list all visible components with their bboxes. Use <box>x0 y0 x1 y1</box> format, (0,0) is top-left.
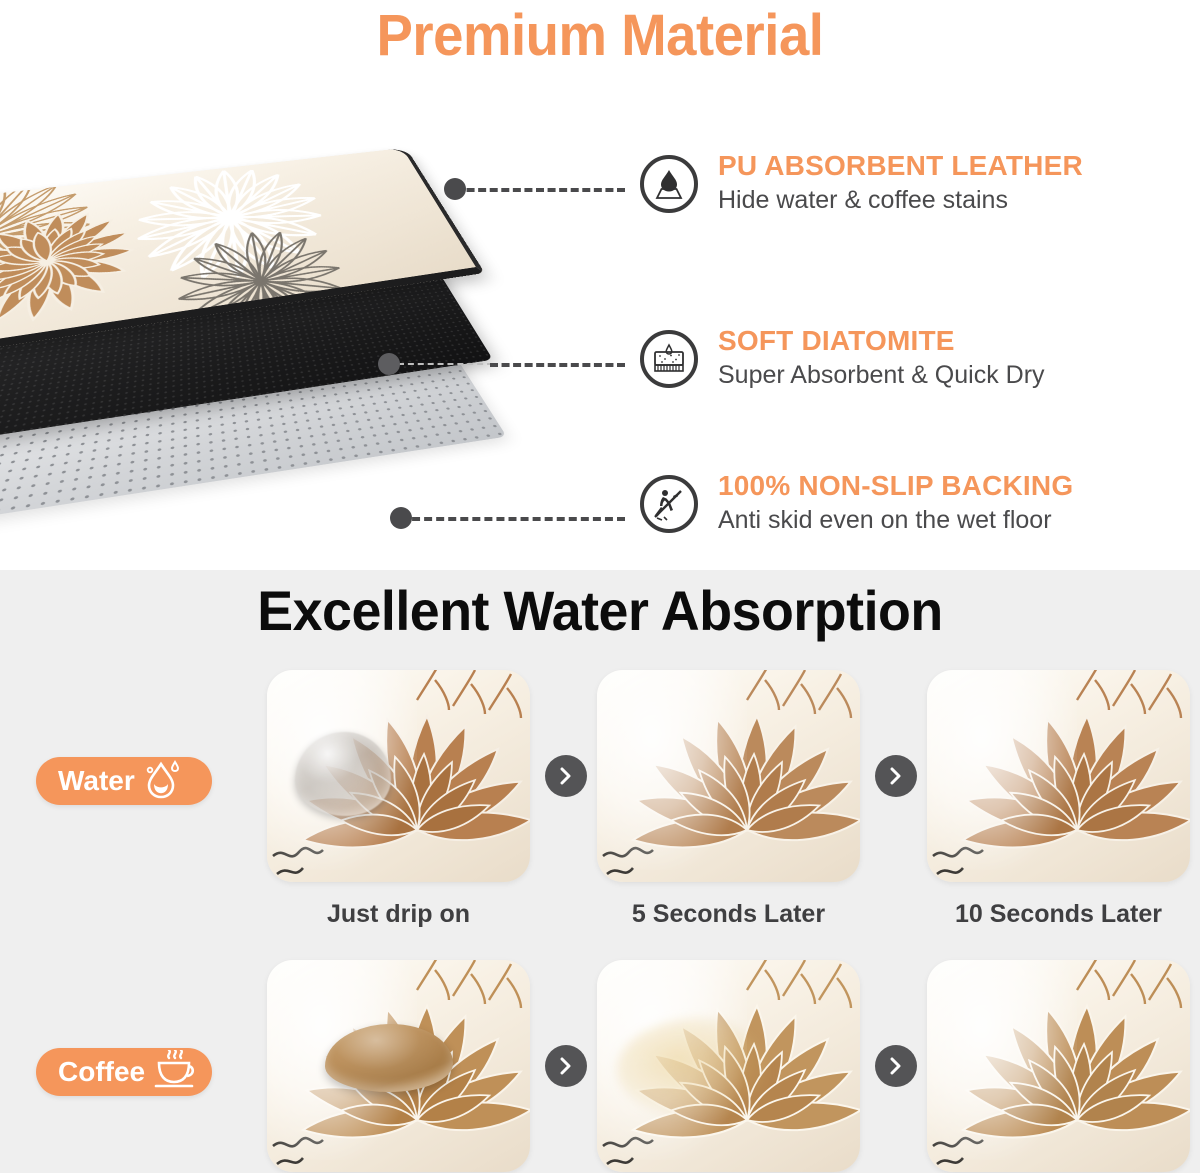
feature-text-block: SOFT DIATOMITE Super Absorbent & Quick D… <box>718 325 1198 390</box>
tile-coffee-5-seconds <box>597 960 860 1172</box>
chevron-right-icon-coffee-1[interactable] <box>545 1045 587 1087</box>
page-title: Premium Material <box>36 2 1164 69</box>
tile-water-5-seconds <box>597 670 860 882</box>
chevron-right-icon-coffee-2[interactable] <box>875 1045 917 1087</box>
exploded-mat-photo <box>0 78 560 558</box>
coffee-residual-stain <box>617 1018 767 1118</box>
chevron-right-icon-water-2[interactable] <box>875 755 917 797</box>
feature-subtitle: Anti skid even on the wet floor <box>718 506 1198 535</box>
feature-text-block: PU ABSORBENT LEATHER Hide water & coffee… <box>718 150 1198 215</box>
connector-line-non-slip <box>400 517 625 521</box>
chevron-right-icon-water-1[interactable] <box>545 755 587 797</box>
badge-label: Coffee <box>58 1056 145 1088</box>
caption-10-seconds-later: 10 Seconds Later <box>927 900 1190 929</box>
no-slipping-person-icon <box>640 475 698 533</box>
water-drop-icon <box>141 759 181 803</box>
tile-water-just-dripped <box>267 670 530 882</box>
water-drop-bead <box>295 732 391 816</box>
badge-water: Water <box>36 757 212 805</box>
section-title: Excellent Water Absorption <box>24 578 1176 643</box>
badge-coffee: Coffee <box>36 1048 212 1096</box>
product-infographic: Premium Material <box>0 0 1200 1173</box>
badge-label: Water <box>58 765 135 797</box>
feature-title: 100% NON-SLIP BACKING <box>718 470 1198 502</box>
absorbent-sponge-icon <box>640 330 698 388</box>
connector-line-pu-leather <box>455 188 625 192</box>
feature-title: SOFT DIATOMITE <box>718 325 1198 357</box>
callout-dot-non-slip <box>390 507 412 529</box>
callout-dot-pu-leather <box>444 178 466 200</box>
feature-subtitle: Hide water & coffee stains <box>718 186 1198 215</box>
water-drop-on-mat-icon <box>640 155 698 213</box>
feature-text-block: 100% NON-SLIP BACKING Anti skid even on … <box>718 470 1198 535</box>
feature-title: PU ABSORBENT LEATHER <box>718 150 1198 182</box>
feature-subtitle: Super Absorbent & Quick Dry <box>718 361 1198 390</box>
tile-water-10-seconds <box>927 670 1190 882</box>
connector-line-diatomite <box>490 363 625 367</box>
connector-leader-diatomite <box>398 363 493 365</box>
coffee-cup-icon <box>151 1050 197 1094</box>
tile-coffee-10-seconds <box>927 960 1190 1172</box>
callout-dot-diatomite <box>378 353 400 375</box>
caption-5-seconds-later: 5 Seconds Later <box>597 900 860 929</box>
premium-material-section: Premium Material <box>0 0 1200 570</box>
tile-coffee-just-dripped <box>267 960 530 1172</box>
caption-just-drip-on: Just drip on <box>267 900 530 929</box>
water-absorption-section: Excellent Water Absorption Water Coffee <box>0 570 1200 1173</box>
